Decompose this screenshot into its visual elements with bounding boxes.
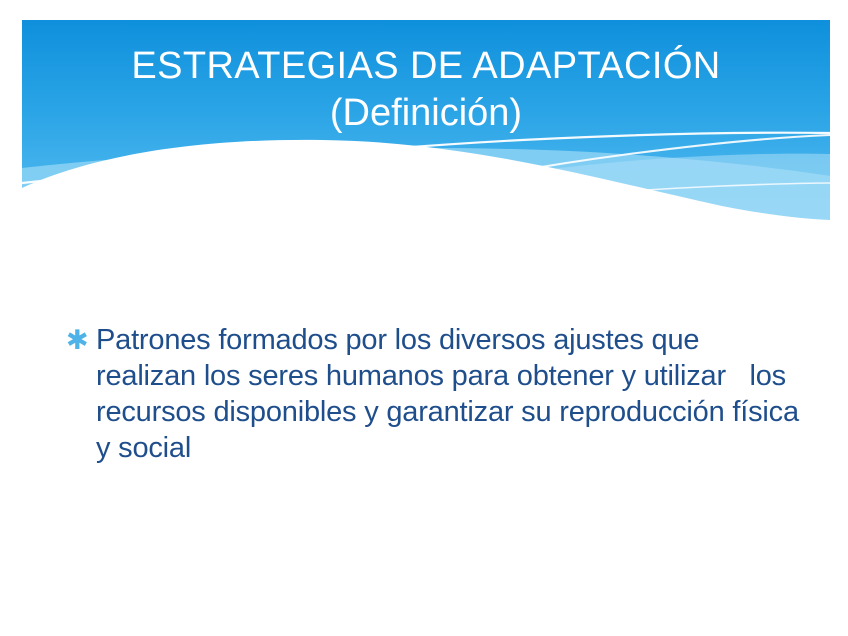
body-content: ✱ Patrones formados por los diversos aju… bbox=[66, 322, 806, 466]
banner-wave-graphic bbox=[22, 20, 830, 220]
asterisk-bullet-icon: ✱ bbox=[66, 322, 96, 358]
bullet-paragraph-text: Patrones formados por los diversos ajust… bbox=[96, 322, 806, 466]
title-banner: ESTRATEGIAS DE ADAPTACIÓN (Definición) bbox=[22, 20, 830, 220]
bullet-item: ✱ Patrones formados por los diversos aju… bbox=[66, 322, 806, 466]
slide-canvas: ESTRATEGIAS DE ADAPTACIÓN (Definición) ✱… bbox=[0, 0, 848, 636]
